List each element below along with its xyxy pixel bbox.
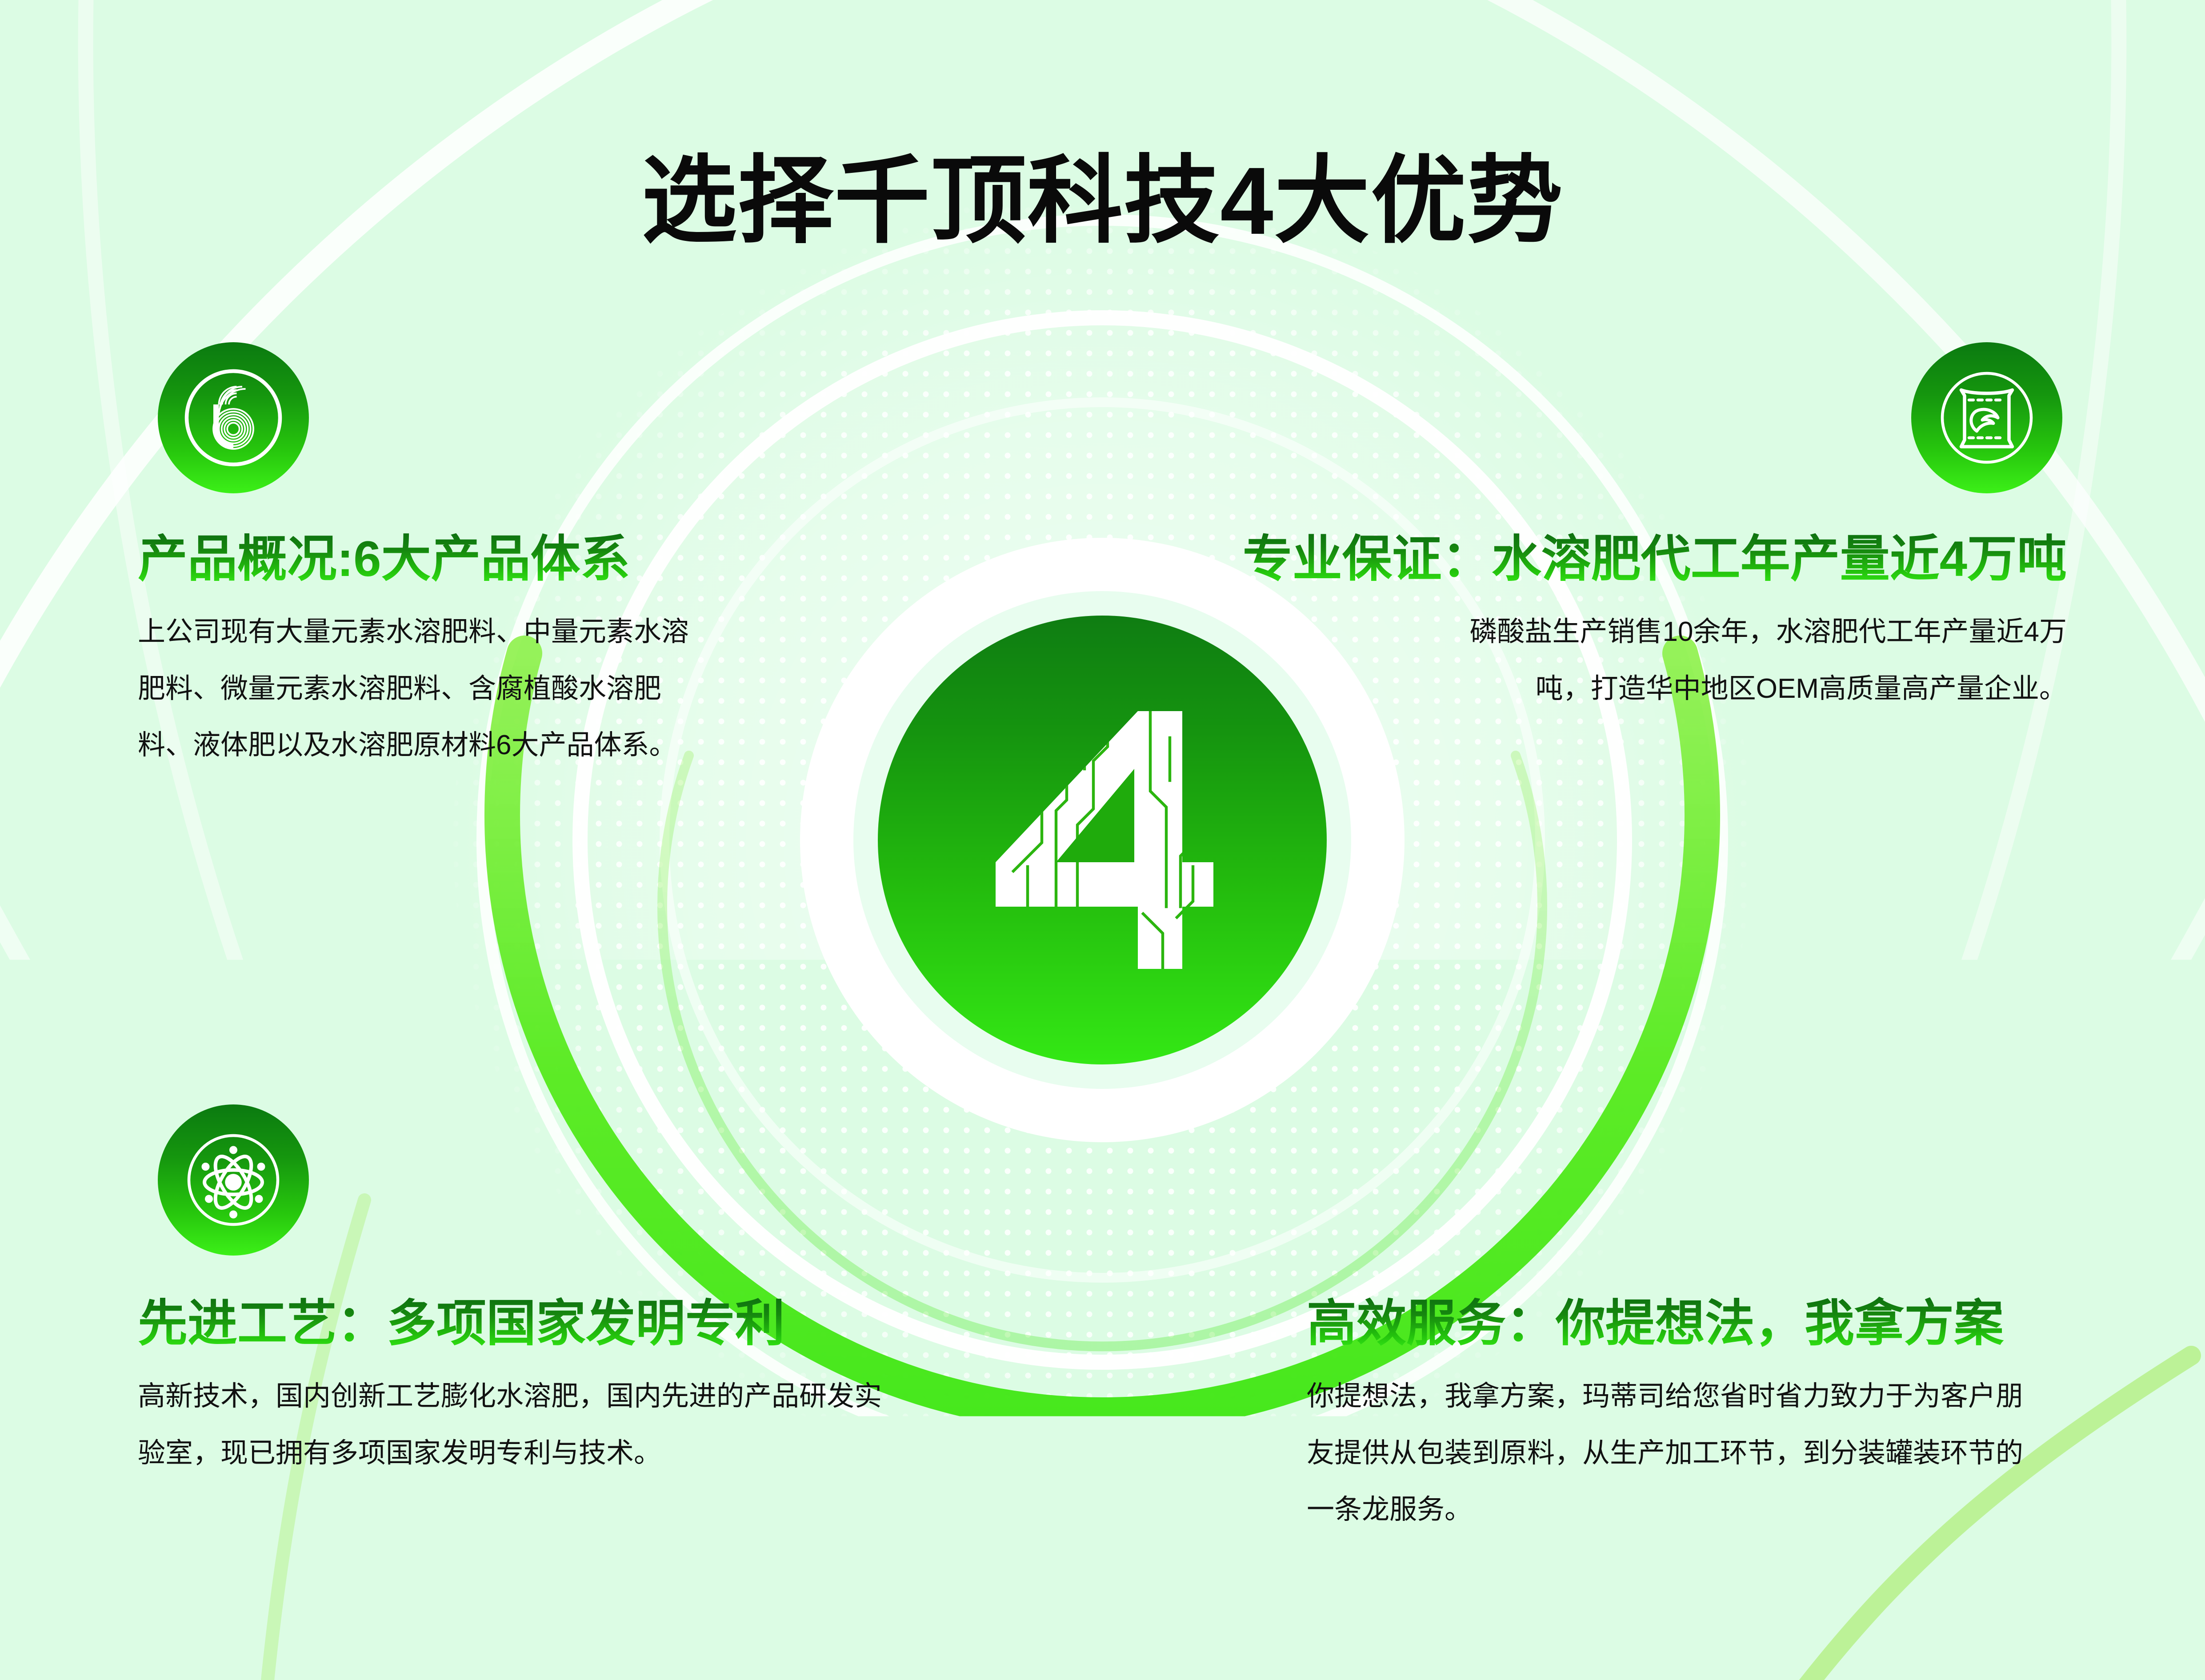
feature-heading: 先进工艺：多项国家发明专利: [138, 1296, 902, 1351]
number-six-rings-icon: [158, 342, 309, 493]
feature-heading: 产品概况:6大产品体系: [138, 531, 698, 587]
poster-canvas: 选择千顶科技4大优势: [0, 0, 2205, 1680]
meeting-team-icon: [1916, 1104, 2067, 1256]
feature-text-professional-guarantee: 专业保证：水溶肥代工年产量近4万吨 磷酸盐生产销售10余年，水溶肥代工年产量近4…: [1182, 531, 2067, 717]
fertilizer-bag-icon: [1911, 342, 2062, 493]
circuit-four-icon: [960, 684, 1245, 996]
feature-body: 磷酸盐生产销售10余年，水溶肥代工年产量近4万吨，打造华中地区OEM高质量高产量…: [1418, 604, 2067, 716]
feature-body: 上公司现有大量元素水溶肥料、中量元素水溶肥料、微量元素水溶肥料、含腐植酸水溶肥料…: [138, 604, 698, 773]
feature-body: 高新技术，国内创新工艺膨化水溶肥，国内先进的产品研发实验室，现已拥有多项国家发明…: [138, 1368, 902, 1481]
feature-heading: 高效服务：你提想法，我拿方案: [1307, 1296, 2036, 1351]
feature-body: 你提想法，我拿方案，玛蒂司给您省时省力致力于为客户朋友提供从包装到原料，从生产加…: [1307, 1368, 2036, 1537]
feature-text-advanced-process: 先进工艺：多项国家发明专利 高新技术，国内创新工艺膨化水溶肥，国内先进的产品研发…: [138, 1296, 902, 1481]
feature-text-product-overview: 产品概况:6大产品体系 上公司现有大量元素水溶肥料、中量元素水溶肥料、微量元素水…: [138, 531, 698, 773]
feature-text-efficient-service: 高效服务：你提想法，我拿方案 你提想法，我拿方案，玛蒂司给您省时省力致力于为客户…: [1307, 1296, 2036, 1538]
feature-heading: 专业保证：水溶肥代工年产量近4万吨: [1182, 531, 2067, 587]
page-title: 选择千顶科技4大优势: [0, 153, 2205, 248]
atom-icon: [158, 1104, 309, 1256]
